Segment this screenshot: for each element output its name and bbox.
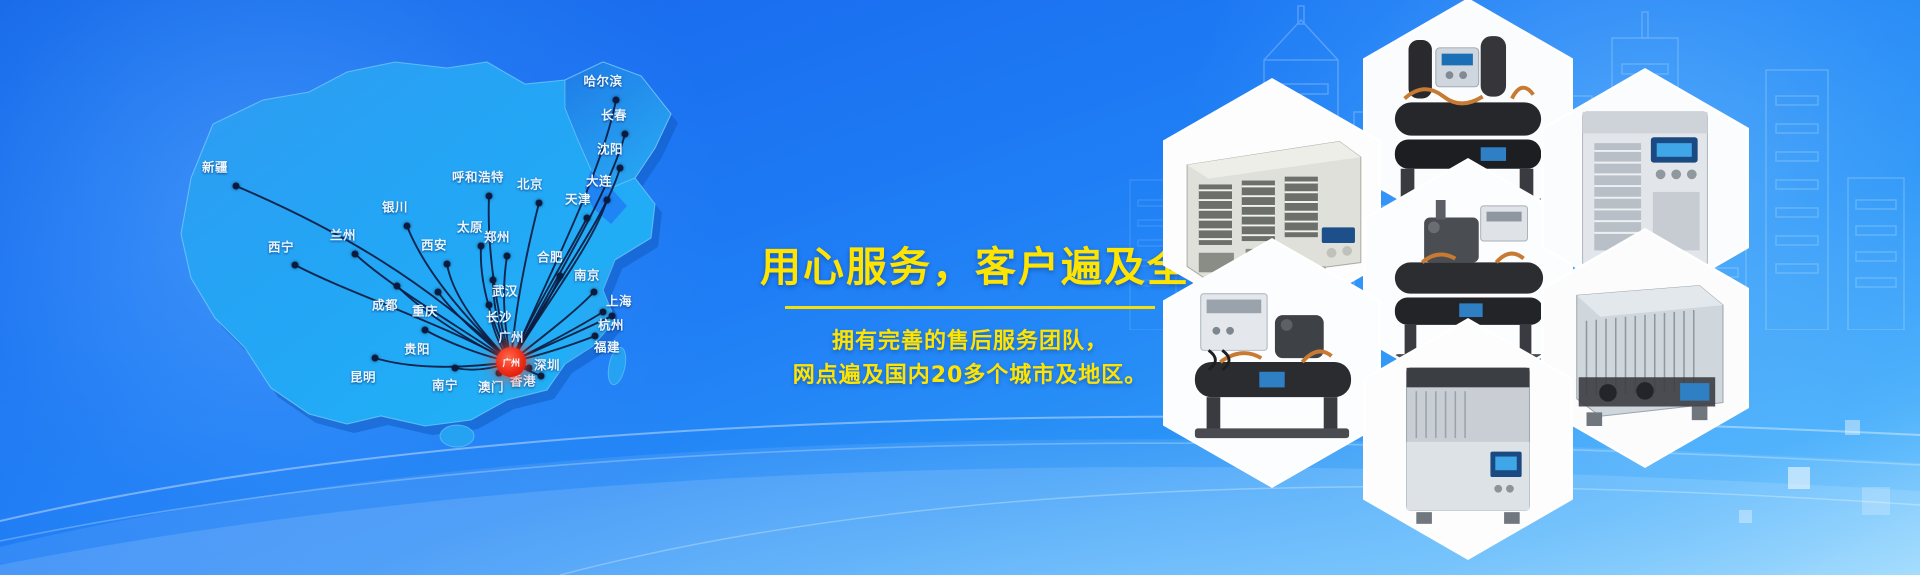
headline: 用心服务，客户遍及全国 [760, 245, 1180, 290]
city-label: 西宁 [268, 237, 294, 256]
city-label: 沈阳 [597, 139, 623, 158]
city-label: 郑州 [484, 227, 510, 246]
city-dot[interactable] [444, 261, 451, 268]
city-label: 长春 [601, 105, 627, 124]
city-dot[interactable] [591, 289, 598, 296]
city-label: 长沙 [486, 307, 512, 326]
city-dot[interactable] [292, 262, 299, 269]
city-dot[interactable] [352, 251, 359, 258]
city-label: 太原 [457, 217, 483, 236]
city-label: 福建 [594, 337, 620, 356]
city-label: 杭州 [598, 315, 624, 334]
divider-rule [785, 306, 1155, 309]
city-label: 北京 [517, 174, 543, 193]
city-label: 上海 [606, 291, 632, 310]
city-label: 大连 [586, 171, 612, 190]
city-label: 南京 [574, 265, 600, 284]
city-dot[interactable] [536, 200, 543, 207]
city-dot[interactable] [486, 193, 493, 200]
city-label: 贵阳 [404, 339, 430, 358]
city-dot[interactable] [422, 327, 429, 334]
city-dot[interactable] [538, 373, 545, 380]
city-dot[interactable] [617, 165, 624, 172]
city-dot[interactable] [233, 183, 240, 190]
china-map-shape [95, 28, 735, 458]
city-label: 天津 [565, 189, 591, 208]
city-dot[interactable] [613, 97, 620, 104]
city-dot[interactable] [404, 223, 411, 230]
city-label: 重庆 [412, 301, 438, 320]
city-dot[interactable] [604, 197, 611, 204]
subtitle: 拥有完善的售后服务团队， 网点遍及国内20多个城市及地区。 [760, 325, 1180, 393]
city-label: 新疆 [202, 157, 228, 176]
city-dot[interactable] [372, 355, 379, 362]
china-service-map: 新疆西宁兰州银川呼和浩特北京天津太原哈尔滨长春沈阳大连西安郑州合肥南京武汉长沙成… [95, 28, 735, 458]
city-dot[interactable] [452, 365, 459, 372]
copy-block: 用心服务，客户遍及全国 拥有完善的售后服务团队， 网点遍及国内20多个城市及地区… [760, 245, 1180, 393]
hub-label: 广州 [498, 327, 523, 346]
city-label: 武汉 [492, 281, 518, 300]
promo-banner: 新疆西宁兰州银川呼和浩特北京天津太原哈尔滨长春沈阳大连西安郑州合肥南京武汉长沙成… [0, 0, 1920, 575]
city-label: 呼和浩特 [452, 167, 504, 186]
city-label: 银川 [382, 197, 408, 216]
city-label: 合肥 [537, 247, 563, 266]
city-dot[interactable] [557, 273, 564, 280]
city-dot[interactable] [435, 289, 442, 296]
city-label: 成都 [372, 295, 398, 314]
city-label: 澳门 [478, 377, 504, 396]
city-label: 哈尔滨 [583, 71, 622, 90]
city-label: 昆明 [350, 367, 376, 386]
hub-marker-guangzhou[interactable]: 广州 [496, 347, 526, 377]
city-label: 兰州 [330, 225, 356, 244]
product-hexagon-grid [1175, 0, 1920, 575]
city-dot[interactable] [504, 253, 511, 260]
city-label: 深圳 [534, 355, 560, 374]
subtitle-line-2: 网点遍及国内20多个城市及地区。 [760, 359, 1180, 393]
city-dot[interactable] [622, 131, 629, 138]
city-dot[interactable] [584, 215, 591, 222]
city-dot[interactable] [394, 283, 401, 290]
city-label: 西安 [421, 235, 447, 254]
subtitle-line-1: 拥有完善的售后服务团队， [760, 325, 1180, 359]
city-label: 南宁 [432, 375, 458, 394]
